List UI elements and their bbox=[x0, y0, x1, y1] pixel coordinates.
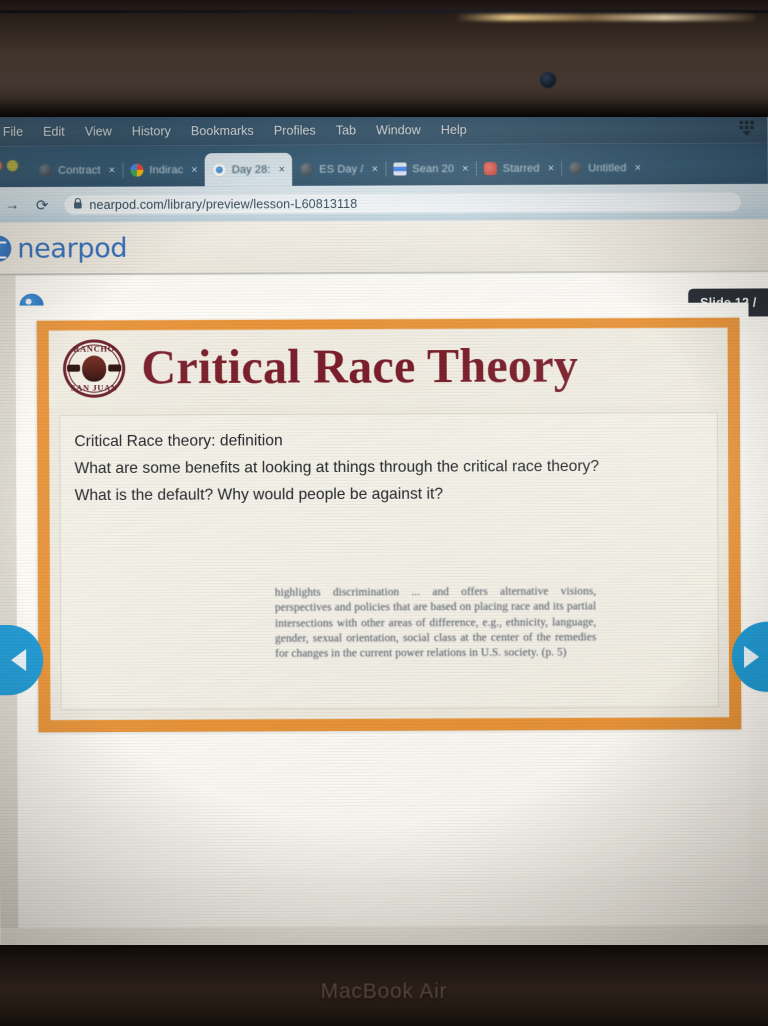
slide-body-line-2: What are some benefits at looking at thi… bbox=[74, 454, 703, 482]
reload-icon[interactable]: ⟳ bbox=[27, 196, 57, 214]
menu-item-bookmarks[interactable]: Bookmarks bbox=[181, 123, 264, 137]
tab-favicon bbox=[213, 163, 226, 176]
window-traffic-lights[interactable] bbox=[0, 160, 18, 171]
crest-bottom-text: SAN JUAN bbox=[61, 383, 127, 393]
browser-tab-es-day[interactable]: ES Day / × bbox=[292, 152, 385, 186]
menu-item-help[interactable]: Help bbox=[431, 122, 477, 136]
nearpod-mark-icon bbox=[0, 235, 11, 261]
tab-close-icon[interactable]: × bbox=[191, 164, 198, 176]
tab-close-icon[interactable]: × bbox=[109, 164, 116, 176]
menu-item-profiles[interactable]: Profiles bbox=[264, 123, 326, 137]
forward-arrow-icon[interactable]: → bbox=[0, 196, 27, 213]
tab-favicon bbox=[300, 163, 313, 176]
tab-close-icon[interactable]: × bbox=[462, 163, 469, 175]
tab-favicon bbox=[484, 162, 497, 175]
menu-item-window[interactable]: Window bbox=[366, 123, 431, 137]
crest-top-text: RANCHO bbox=[61, 343, 127, 353]
browser-tab-sean20[interactable]: Sean 20 × bbox=[385, 152, 476, 186]
tab-favicon bbox=[393, 162, 406, 175]
browser-tab-strip: Contract × Indirac × Day 28: × bbox=[0, 143, 768, 188]
browser-tab-day28[interactable]: Day 28: × bbox=[205, 153, 293, 187]
nearpod-logo[interactable]: nearpod bbox=[0, 232, 127, 264]
tab-close-icon[interactable]: × bbox=[635, 162, 642, 174]
laptop-photo: File Edit View History Bookmarks Profile… bbox=[0, 0, 768, 1026]
menu-extras-icon[interactable] bbox=[734, 117, 760, 140]
browser-toolbar: → ⟳ nearpod.com/library/preview/lesson-L… bbox=[0, 184, 768, 223]
tab-list: Contract × Indirac × Day 28: × bbox=[31, 143, 648, 187]
macos-menu-bar: File Edit View History Bookmarks Profile… bbox=[0, 117, 768, 146]
rancho-san-juan-crest-icon: RANCHO SAN JUAN bbox=[61, 337, 128, 400]
url-text: nearpod.com/library/preview/lesson-L6081… bbox=[89, 196, 357, 211]
slide-title: Critical Race Theory bbox=[141, 342, 578, 392]
tab-favicon bbox=[39, 164, 52, 177]
slide-stage: Slide 12 / RANCHO S bbox=[0, 272, 768, 928]
browser-tab-starred[interactable]: Starred × bbox=[476, 152, 562, 186]
tab-title: Starred bbox=[503, 162, 540, 174]
menu-item-tab[interactable]: Tab bbox=[326, 123, 366, 137]
slide-title-band: RANCHO SAN JUAN Critical Race Theory bbox=[49, 328, 728, 407]
tab-close-icon[interactable]: × bbox=[279, 163, 286, 175]
hinge-line bbox=[0, 10, 768, 13]
tab-close-icon[interactable]: × bbox=[548, 162, 555, 174]
tab-title: ES Day / bbox=[319, 163, 363, 175]
tab-title: Day 28: bbox=[232, 164, 271, 176]
browser-tab-untitled[interactable]: Untitled × bbox=[561, 151, 648, 185]
nearpod-header: nearpod bbox=[0, 219, 768, 275]
tab-title: Contract bbox=[58, 164, 101, 176]
close-window-button[interactable] bbox=[0, 160, 2, 171]
menu-item-view[interactable]: View bbox=[75, 124, 122, 138]
nearpod-wordmark: nearpod bbox=[17, 232, 127, 264]
tab-favicon bbox=[569, 162, 582, 175]
slide-excerpt-quote: highlights discrimination ... and offers… bbox=[275, 584, 597, 662]
slide-paper: RANCHO SAN JUAN Critical Race Theory Cri… bbox=[49, 328, 729, 721]
laptop-top-bezel bbox=[0, 0, 768, 118]
menu-item-file[interactable]: File bbox=[0, 124, 33, 138]
slide-body-line-1: Critical Race theory: definition bbox=[74, 427, 703, 455]
slide-orange-frame: RANCHO SAN JUAN Critical Race Theory Cri… bbox=[37, 318, 742, 733]
lock-icon bbox=[73, 197, 82, 211]
chevron-right-icon bbox=[743, 646, 758, 668]
chevron-left-icon bbox=[11, 649, 26, 671]
webcam-icon bbox=[540, 72, 556, 88]
tab-title: Sean 20 bbox=[412, 163, 454, 175]
address-bar[interactable]: nearpod.com/library/preview/lesson-L6081… bbox=[63, 191, 742, 215]
bezel-shadow bbox=[0, 98, 768, 118]
laptop-screen: File Edit View History Bookmarks Profile… bbox=[0, 117, 768, 946]
slide-body-line-3: What is the default? Why would people be… bbox=[75, 481, 704, 509]
slide-body-box: Critical Race theory: definition What ar… bbox=[59, 412, 719, 710]
browser-tab-indirac[interactable]: Indirac × bbox=[122, 153, 205, 186]
minimize-window-button[interactable] bbox=[7, 160, 18, 171]
tab-close-icon[interactable]: × bbox=[372, 163, 379, 175]
browser-tab-contract[interactable]: Contract × bbox=[31, 154, 122, 188]
menu-item-history[interactable]: History bbox=[122, 124, 181, 138]
tab-title: Indirac bbox=[149, 164, 183, 176]
menu-item-edit[interactable]: Edit bbox=[33, 124, 75, 138]
macbook-air-label: MacBook Air bbox=[0, 980, 768, 1004]
slide-canvas: RANCHO SAN JUAN Critical Race Theory Cri… bbox=[16, 303, 751, 878]
tab-title: Untitled bbox=[588, 162, 626, 174]
tab-favicon bbox=[130, 164, 143, 177]
hinge-glint bbox=[455, 14, 755, 21]
